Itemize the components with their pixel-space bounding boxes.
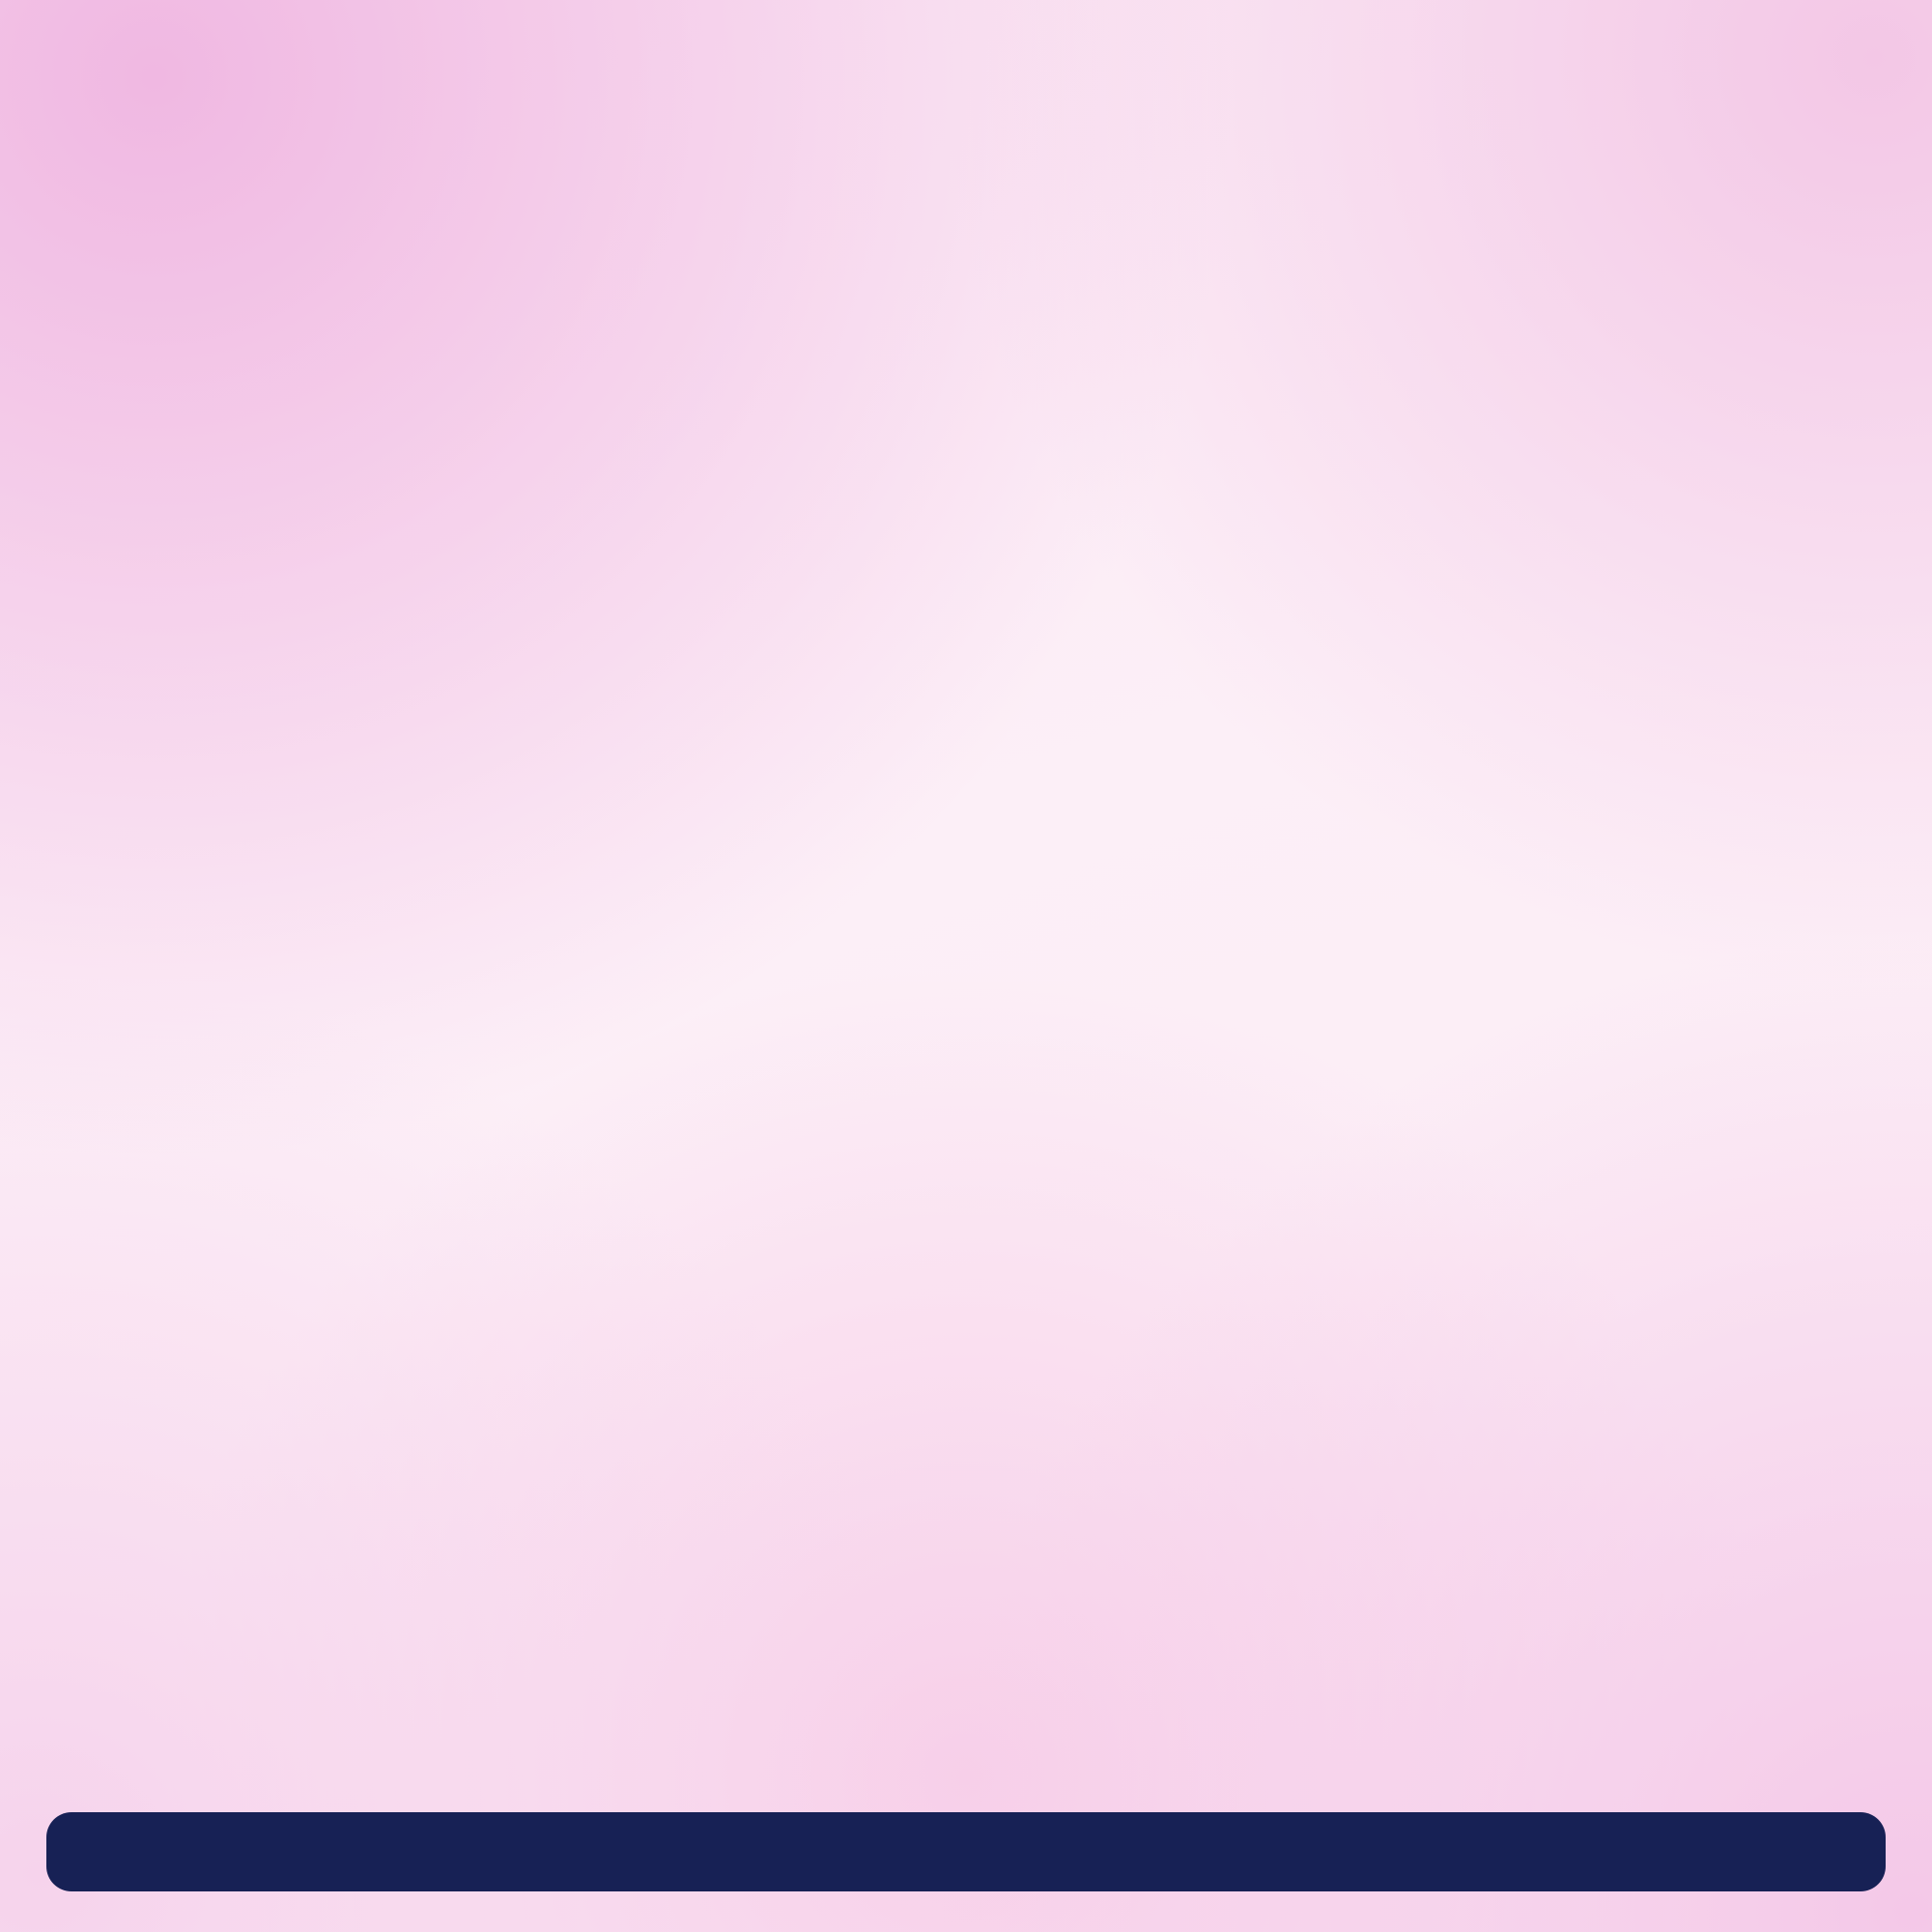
infographic-canvas	[0, 0, 1932, 1932]
legend-footer	[46, 1812, 1886, 1891]
